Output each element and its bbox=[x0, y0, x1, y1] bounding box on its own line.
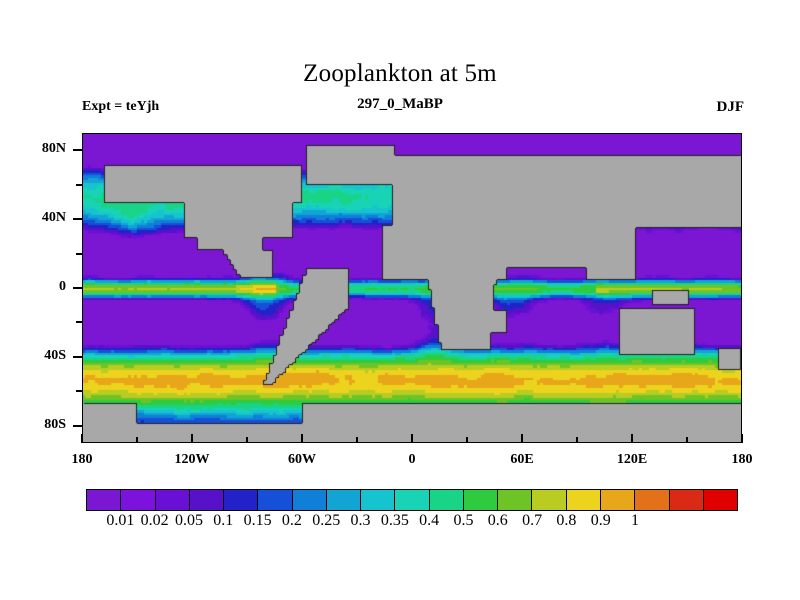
y-axis-tick-minor bbox=[76, 321, 82, 323]
colorbar-segment-amber bbox=[601, 490, 635, 510]
x-axis-tick-minor bbox=[136, 437, 138, 443]
x-axis-label: 120W bbox=[175, 452, 210, 468]
x-axis-label: 120E bbox=[617, 452, 647, 468]
colorbar-tick-label: 0.01 bbox=[106, 512, 134, 530]
colorbar-tick-label: 0.4 bbox=[419, 512, 439, 530]
x-axis-label: 0 bbox=[409, 452, 416, 468]
x-axis-tick-major bbox=[521, 434, 523, 443]
colorbar-tick-label: 0.7 bbox=[522, 512, 542, 530]
y-axis-tick-minor bbox=[76, 390, 82, 392]
y-axis-label: 40N bbox=[42, 210, 66, 226]
colorbar-tick-label: 0.35 bbox=[381, 512, 409, 530]
x-axis-tick-minor bbox=[356, 437, 358, 443]
page-title: Zooplankton at 5m bbox=[0, 60, 800, 88]
y-axis-label: 80S bbox=[44, 417, 66, 433]
colorbar-segment-teal bbox=[395, 490, 429, 510]
colorbar-segment-purple bbox=[121, 490, 155, 510]
colorbar-segment-indigo bbox=[190, 490, 224, 510]
colorbar-segment-light-blue bbox=[327, 490, 361, 510]
colorbar-segments bbox=[86, 489, 738, 511]
x-axis-label: 180 bbox=[732, 452, 753, 468]
colorbar-segment-lime bbox=[532, 490, 566, 510]
colorbar-segment-yellow bbox=[567, 490, 601, 510]
y-axis-tick-minor bbox=[76, 253, 82, 255]
colorbar-segment-red bbox=[704, 490, 737, 510]
colorbar-tick-label: 1 bbox=[631, 512, 639, 530]
colorbar-tick-label: 0.15 bbox=[244, 512, 272, 530]
y-axis-label: 80N bbox=[42, 141, 66, 157]
x-axis-tick-major bbox=[301, 434, 303, 443]
x-axis-tick-major bbox=[191, 434, 193, 443]
colorbar-segment-azure bbox=[293, 490, 327, 510]
colorbar-segment-cyan bbox=[361, 490, 395, 510]
x-axis-label: 180 bbox=[72, 452, 93, 468]
colorbar-segment-deep-purple bbox=[156, 490, 190, 510]
map-plot-area bbox=[82, 133, 742, 443]
x-axis-label: 60W bbox=[288, 452, 316, 468]
colorbar-segment-orange bbox=[635, 490, 669, 510]
y-axis-tick-major bbox=[73, 356, 82, 358]
colorbar-segment-red-orange bbox=[670, 490, 704, 510]
y-axis-label: 40S bbox=[44, 348, 66, 364]
colorbar-segment-blue bbox=[224, 490, 258, 510]
y-axis-tick-major bbox=[73, 287, 82, 289]
colorbar-tick-label: 0.2 bbox=[282, 512, 302, 530]
colorbar-tick-labels: 0.010.020.050.10.150.20.250.30.350.40.50… bbox=[86, 512, 738, 536]
figure-container: Zooplankton at 5m 297_0_MaBP Expt = teYj… bbox=[0, 0, 800, 600]
colorbar-tick-label: 0.25 bbox=[312, 512, 340, 530]
contour-map-canvas bbox=[83, 134, 742, 443]
x-axis-tick-major bbox=[741, 434, 743, 443]
season-label: DJF bbox=[717, 99, 745, 116]
x-axis-tick-minor bbox=[576, 437, 578, 443]
colorbar-tick-label: 0.3 bbox=[351, 512, 371, 530]
y-axis-tick-major bbox=[73, 218, 82, 220]
colorbar-tick-label: 0.05 bbox=[175, 512, 203, 530]
colorbar-tick-label: 0.02 bbox=[141, 512, 169, 530]
x-axis-tick-minor bbox=[686, 437, 688, 443]
x-axis-tick-major bbox=[631, 434, 633, 443]
x-axis-tick-major bbox=[81, 434, 83, 443]
x-axis-label: 60E bbox=[510, 452, 533, 468]
colorbar-segment-yellow-green bbox=[498, 490, 532, 510]
colorbar-segment-blue-mid bbox=[258, 490, 292, 510]
y-axis-tick-minor bbox=[76, 184, 82, 186]
colorbar-segment-green bbox=[464, 490, 498, 510]
colorbar-tick-label: 0.1 bbox=[213, 512, 233, 530]
y-axis-tick-major bbox=[73, 425, 82, 427]
x-axis-tick-major bbox=[411, 434, 413, 443]
colorbar-tick-label: 0.8 bbox=[556, 512, 576, 530]
colorbar-tick-label: 0.6 bbox=[488, 512, 508, 530]
experiment-label: Expt = teYjh bbox=[82, 99, 159, 115]
colorbar-tick-label: 0.5 bbox=[453, 512, 473, 530]
x-axis-tick-minor bbox=[466, 437, 468, 443]
y-axis-label: 0 bbox=[59, 279, 66, 295]
colorbar-segment-violet bbox=[87, 490, 121, 510]
colorbar-tick-label: 0.9 bbox=[591, 512, 611, 530]
colorbar bbox=[86, 489, 738, 511]
y-axis-tick-major bbox=[73, 149, 82, 151]
x-axis-tick-minor bbox=[246, 437, 248, 443]
colorbar-segment-spring-green bbox=[430, 490, 464, 510]
